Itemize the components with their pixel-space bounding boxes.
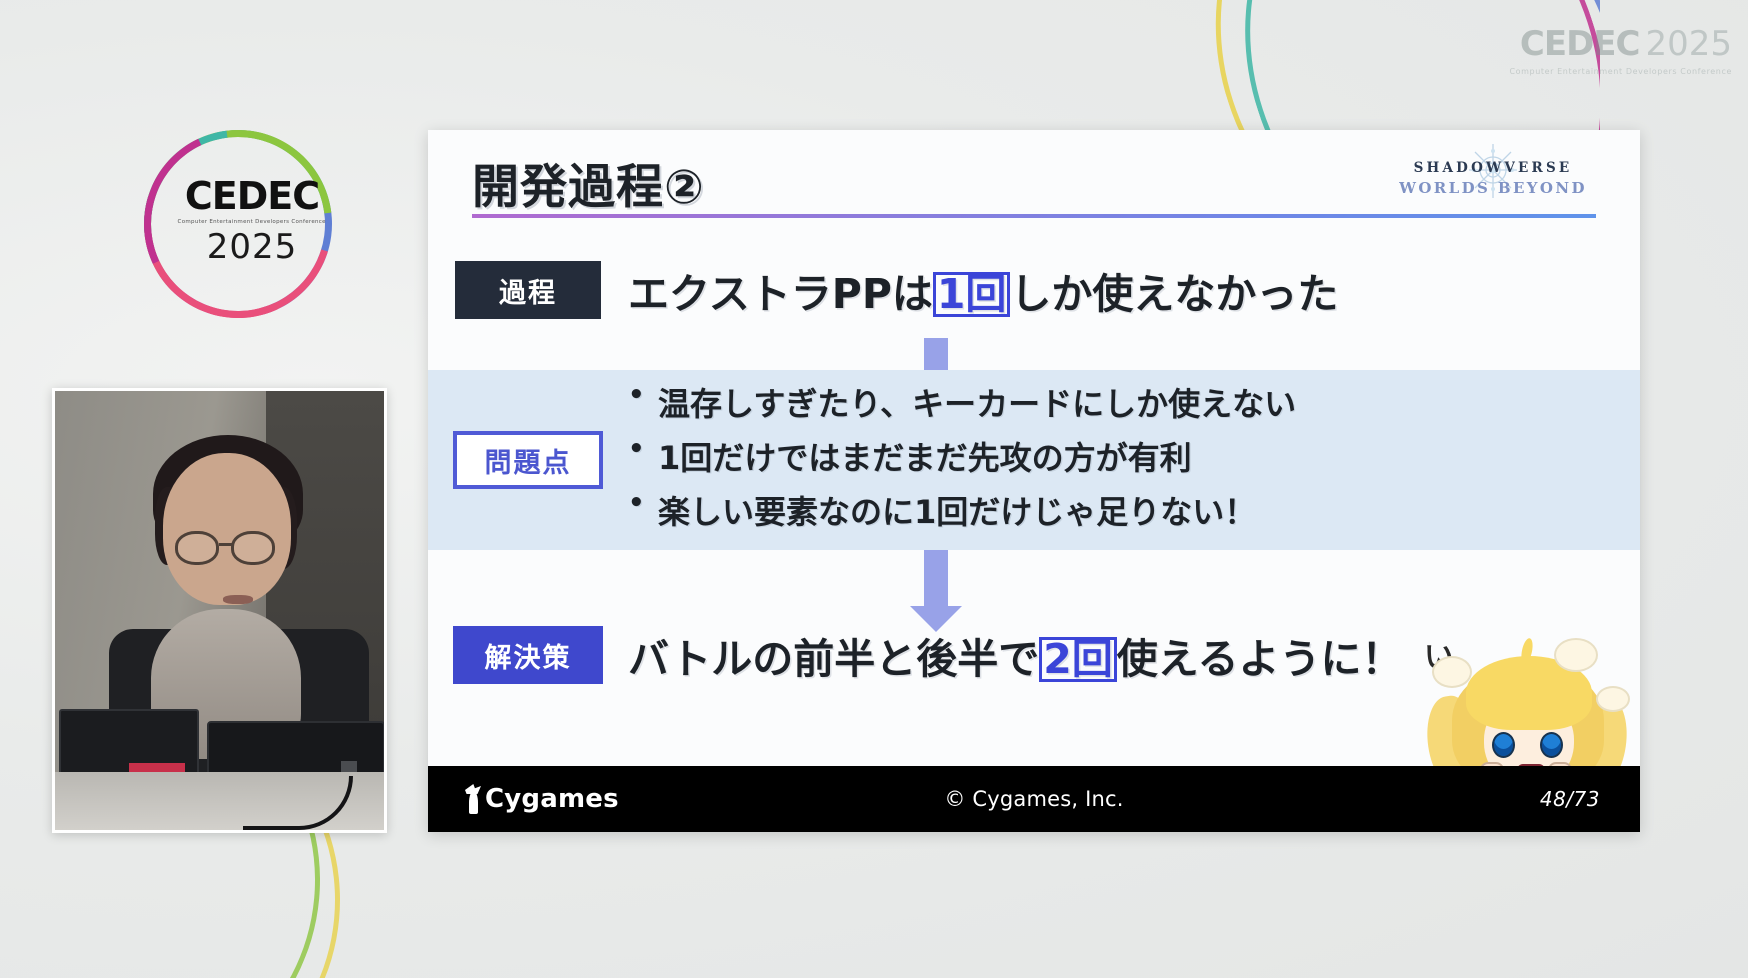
badge-solution: 解決策 — [453, 626, 603, 684]
title-underline — [472, 214, 1596, 218]
slide-footer: Cygames © Cygames, Inc. 48/73 — [428, 766, 1640, 832]
monitor-sticker — [129, 763, 185, 772]
cygames-brand-text: Cygames — [485, 784, 619, 814]
speaker-glasses-right — [231, 531, 275, 565]
presenter-video-feed — [52, 388, 387, 833]
speaker-glasses-bridge — [219, 543, 233, 546]
list-item: • 温存しすぎたり、キーカードにしか使えない — [628, 379, 1296, 425]
badge-process: 過程 — [455, 261, 601, 319]
problem-bullet-text: 楽しい要素なのに1回だけじゃ足りない！ — [658, 487, 1256, 533]
slide-page-number: 48/73 — [1540, 787, 1600, 811]
cedec-corner-wordmark: CEDEC — [1520, 24, 1640, 64]
solution-text-after: 使えるように！ — [1117, 635, 1403, 683]
problem-bullet-text: 1回だけではまだまだ先攻の方が有利 — [658, 433, 1192, 479]
presentation-slide: 開発過程② SHADOWVERSE WORLDS BEYOND — [428, 130, 1640, 832]
cedec-year: 2025 — [207, 227, 298, 267]
process-highlight: 1回 — [933, 272, 1011, 317]
cygames-logo: Cygames — [464, 784, 619, 814]
shadowverse-logo: SHADOWVERSE WORLDS BEYOND — [1386, 144, 1600, 206]
speaker-face — [163, 453, 291, 605]
cedec-tagline: Computer Entertainment Developers Confer… — [178, 219, 326, 225]
cygames-mark-icon — [464, 784, 483, 814]
solution-statement: バトルの前半と後半で2回使えるように！ — [628, 625, 1403, 685]
process-text-before: エクストラPPは — [628, 270, 933, 318]
bullet-marker-icon: • — [628, 379, 658, 412]
row-solution: 解決策 バトルの前半と後半で2回使えるように！ — [428, 600, 1640, 710]
bullet-marker-icon: • — [628, 433, 658, 466]
badge-problem: 問題点 — [453, 431, 603, 489]
shadowverse-title: SHADOWVERSE — [1386, 160, 1600, 176]
cedec-corner-logo: CEDEC 2025 Computer Entertainment Develo… — [1509, 24, 1732, 76]
row-process: 過程 エクストラPPは1回しか使えなかった — [428, 242, 1640, 338]
solution-highlight: 2回 — [1039, 637, 1117, 682]
cedec-corner-tagline: Computer Entertainment Developers Confer… — [1509, 67, 1732, 76]
speaker-glasses-left — [175, 531, 219, 565]
cedec-corner-year: 2025 — [1645, 24, 1732, 64]
process-statement: エクストラPPは1回しか使えなかった — [628, 260, 1338, 320]
process-text-after: しか使えなかった — [1010, 270, 1338, 318]
copyright-text: © Cygames, Inc. — [944, 787, 1123, 811]
slide-title: 開発過程② — [472, 148, 705, 217]
list-item: • 1回だけではまだまだ先攻の方が有利 — [628, 433, 1296, 479]
bullet-marker-icon: • — [628, 487, 658, 520]
problem-bullet-list: • 温存しすぎたり、キーカードにしか使えない • 1回だけではまだまだ先攻の方が… — [628, 379, 1296, 541]
list-item: • 楽しい要素なのに1回だけじゃ足りない！ — [628, 487, 1296, 533]
cedec-wordmark: CEDEC — [185, 177, 319, 215]
slide-content-area: 開発過程② SHADOWVERSE WORLDS BEYOND — [428, 130, 1640, 766]
shadowverse-subtitle: WORLDS BEYOND — [1386, 179, 1600, 197]
cedec-ring-logo: CEDEC Computer Entertainment Developers … — [128, 128, 364, 318]
speaker-mouth — [223, 595, 253, 604]
mascot-eye-right — [1540, 732, 1563, 758]
mascot-eye-left — [1492, 732, 1515, 758]
problem-bullet-text: 温存しすぎたり、キーカードにしか使えない — [658, 379, 1296, 425]
solution-text-before: バトルの前半と後半で — [628, 635, 1039, 683]
row-problems: 問題点 • 温存しすぎたり、キーカードにしか使えない • 1回だけではまだまだ先… — [428, 370, 1640, 550]
